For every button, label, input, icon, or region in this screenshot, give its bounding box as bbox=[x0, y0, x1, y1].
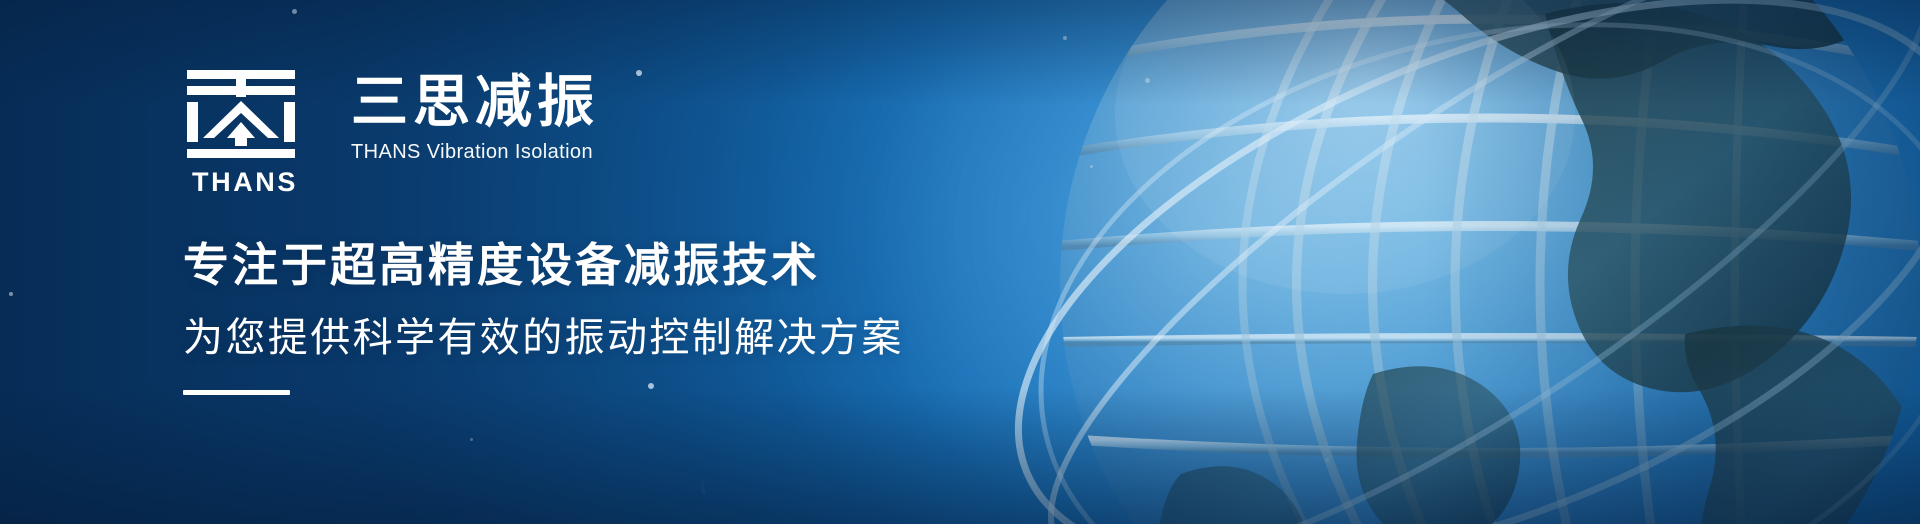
accent-underline-bar bbox=[183, 390, 290, 395]
hero-subheadline: 为您提供科学有效的振动控制解决方案 bbox=[183, 314, 1043, 362]
thans-emblem-icon bbox=[183, 68, 299, 160]
brand-name-block: 三思减振 THANS Vibration Isolation bbox=[351, 68, 599, 164]
sparkle-dot bbox=[9, 292, 13, 296]
sparkle-dot bbox=[470, 438, 473, 441]
company-logo[interactable]: THANS bbox=[183, 68, 307, 196]
brand-name-cn: 三思减振 bbox=[351, 72, 599, 134]
brand-name-en: THANS Vibration Isolation bbox=[351, 141, 599, 164]
sparkle-dot bbox=[1145, 78, 1150, 83]
hero-banner: THANS 三思减振 THANS Vibration Isolation 专注于… bbox=[0, 0, 1920, 524]
sparkle-dot bbox=[292, 9, 297, 14]
brand-lockup: THANS 三思减振 THANS Vibration Isolation bbox=[183, 68, 1043, 196]
sparkle-dot bbox=[1325, 458, 1329, 462]
sparkle-dot bbox=[1090, 165, 1093, 168]
hero-headline: 专注于超高精度设备减振技术 bbox=[183, 238, 1043, 292]
logo-wordmark: THANS bbox=[183, 169, 307, 196]
sparkle-dot bbox=[1063, 36, 1067, 40]
banner-content: THANS 三思减振 THANS Vibration Isolation 专注于… bbox=[183, 68, 1043, 395]
